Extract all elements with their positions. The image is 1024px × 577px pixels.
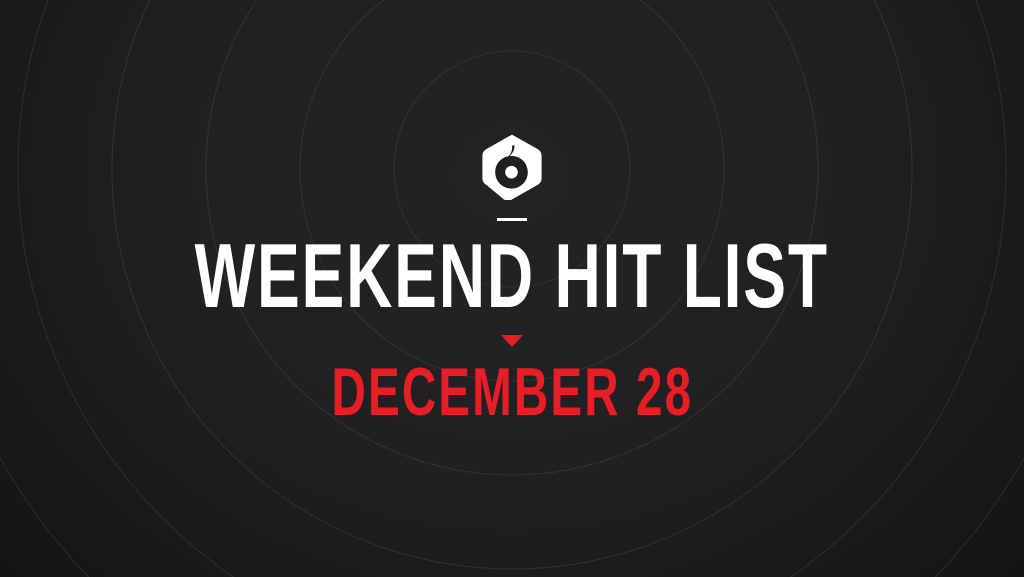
triangle-down-icon <box>501 335 523 347</box>
hero-date: DECEMBER 28 <box>331 361 693 424</box>
beatport-hex-logo-icon <box>482 134 542 200</box>
title-divider-rule <box>497 218 527 221</box>
page-title: WEEKEND HIT LIST <box>195 235 829 319</box>
hero-banner: WEEKEND HIT LIST DECEMBER 28 <box>0 0 1024 577</box>
hero-content: WEEKEND HIT LIST DECEMBER 28 <box>0 0 1024 577</box>
logo-center-dot <box>505 166 518 179</box>
